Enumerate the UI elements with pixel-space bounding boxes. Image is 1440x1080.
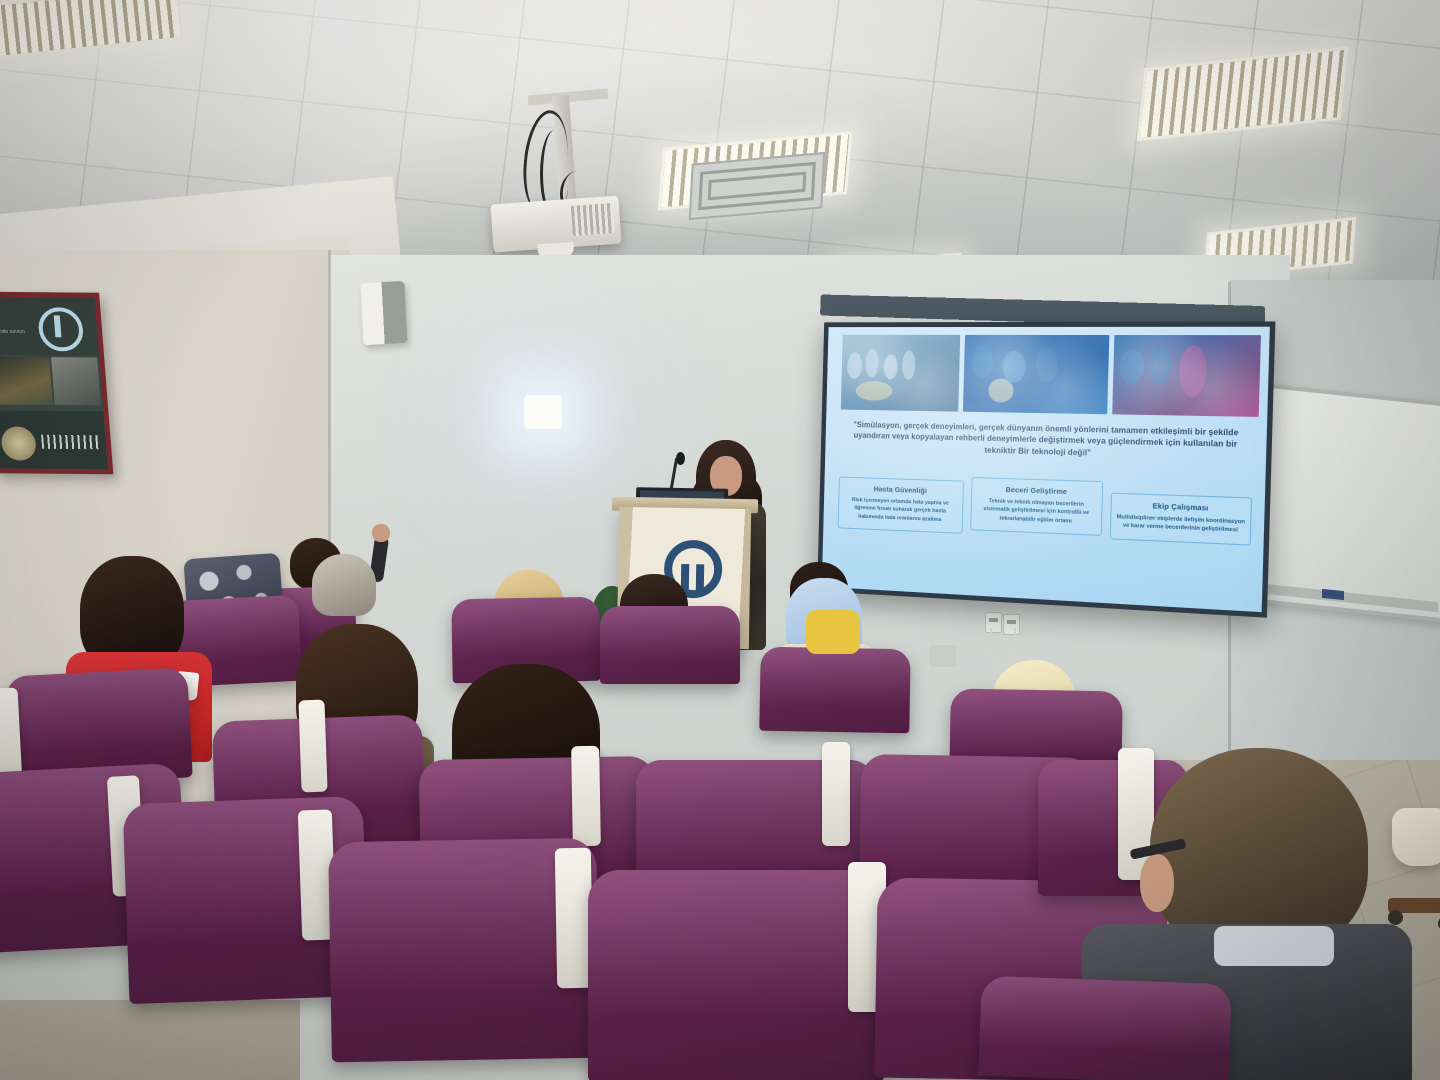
ear <box>1140 854 1174 912</box>
slide-quote: "Simülasyon, gerçek deneyimleri, gerçek … <box>845 419 1247 463</box>
lecture-room-photo: resi üniversite tanıtım <box>0 0 1440 1080</box>
presentation-slide: "Simülasyon, gerçek deneyimleri, gerçek … <box>822 327 1270 612</box>
microphone-icon <box>676 452 685 465</box>
slide-card-row: Hasta Güvenliği Risk içermeyen ortamda h… <box>838 473 1253 547</box>
floor-foreground <box>0 1000 300 1080</box>
slide-card-skill-development: Beceri Geliştirme Teknik ve teknik olmay… <box>970 477 1104 536</box>
wall-poster: resi üniversite tanıtım <box>0 292 113 474</box>
wall-speaker-icon <box>360 281 407 345</box>
slide-card-teamwork: Ekip Çalışması Multidisipliner ekiplerde… <box>1110 493 1252 546</box>
caster-wheel <box>1388 910 1403 925</box>
seat-armrest <box>822 742 850 846</box>
poster-detail <box>41 435 100 449</box>
slide-photo-2 <box>963 335 1109 414</box>
seat <box>759 647 910 734</box>
card-title: Beceri Geliştirme <box>976 484 1099 497</box>
card-body: Multidisipliner ekiplerde iletişim koord… <box>1115 513 1246 536</box>
slide-photo-3 <box>1112 335 1261 417</box>
projector-vent <box>571 203 615 236</box>
seat-armrest <box>298 700 327 793</box>
poster-photo <box>51 357 101 405</box>
poster-subheading: üniversite tanıtım <box>0 329 25 335</box>
card-title: Hasta Güvenliği <box>843 483 959 496</box>
attendee-yellow-top <box>806 600 860 648</box>
card-body: Teknik ve teknik olmayan becerilerin sis… <box>975 497 1098 527</box>
poster-photo <box>0 357 53 405</box>
card-body: Risk içermeyen ortamda hata yapma ve öğr… <box>842 496 958 525</box>
seat <box>978 976 1231 1080</box>
hvac-vent-icon <box>689 152 825 220</box>
wall-jack-icon <box>930 645 956 667</box>
shirt-collar <box>1214 926 1334 966</box>
office-chair <box>1392 808 1440 866</box>
seat <box>588 870 884 1080</box>
attendee-gray-headscarf <box>306 536 382 606</box>
slide-photo-strip <box>841 335 1261 417</box>
slide-card-patient-safety: Hasta Güvenliği Risk içermeyen ortamda h… <box>838 477 964 534</box>
slide-photo-1 <box>841 335 961 412</box>
wall-light-icon <box>524 395 562 429</box>
seat-armrest <box>571 746 601 846</box>
projector-icon <box>490 196 621 253</box>
card-title: Ekip Çalışması <box>1116 500 1246 514</box>
projection-screen: "Simülasyon, gerçek deneyimleri, gerçek … <box>817 321 1275 617</box>
